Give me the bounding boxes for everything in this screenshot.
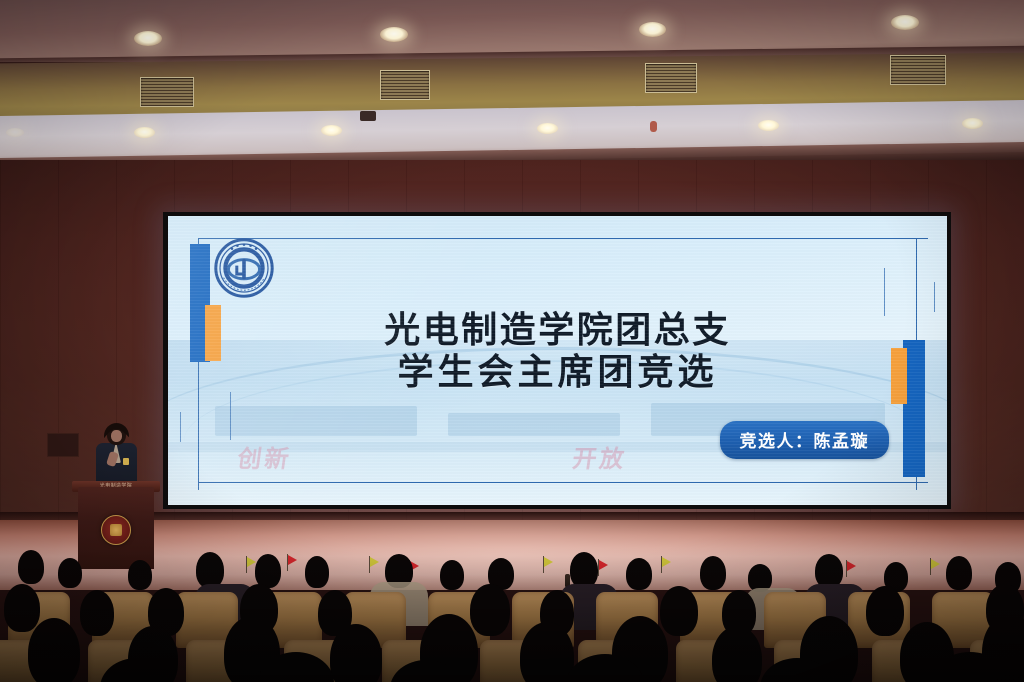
campus-building-block xyxy=(215,406,418,436)
audience-head xyxy=(128,560,152,590)
audience-head xyxy=(712,626,762,682)
audience-head xyxy=(28,618,80,682)
wall-mounted-plate xyxy=(47,433,79,457)
audience-head xyxy=(626,558,652,590)
audience-head xyxy=(470,584,510,636)
ceiling-downlight xyxy=(134,31,162,46)
podium-crest-icon xyxy=(101,515,131,545)
audience-head xyxy=(305,556,329,588)
speaker-face xyxy=(111,430,122,442)
university-emblem-icon xyxy=(214,238,274,298)
slide-tick-mark xyxy=(934,282,935,312)
slide-title-line-2: 学生会主席团竞选 xyxy=(168,351,947,393)
auditorium-scene: 创新 开放 xyxy=(0,0,1024,682)
audience-head xyxy=(196,552,224,588)
audience-head xyxy=(255,554,281,588)
candidate-name-badge: 竞选人：陈孟璇 xyxy=(720,421,890,459)
speaker-badge xyxy=(123,458,129,465)
slide-frame-bottom xyxy=(198,482,928,483)
presentation-slide: 创新 开放 xyxy=(168,216,947,505)
ceiling-downlight xyxy=(537,123,558,134)
audience-head xyxy=(570,552,598,588)
slide-frame-top xyxy=(198,238,928,239)
audience-head xyxy=(58,558,82,588)
projection-screen: 创新 开放 xyxy=(163,212,951,509)
ceiling-downlight xyxy=(134,127,155,138)
slide-tick-mark xyxy=(230,392,231,440)
ventilation-grille xyxy=(645,63,697,93)
audience-head xyxy=(815,554,843,588)
ventilation-grille xyxy=(890,55,946,85)
audience-head xyxy=(520,622,574,682)
ceiling-sprinkler xyxy=(650,121,657,132)
audience-head xyxy=(18,550,44,584)
audience-head xyxy=(866,586,904,636)
ceiling-downlight xyxy=(639,22,666,37)
ceiling-downlight xyxy=(321,125,342,136)
audience-seating xyxy=(0,548,1024,682)
audience-head xyxy=(80,590,114,636)
ceiling-speaker-box xyxy=(360,111,376,121)
ceiling-downlight xyxy=(891,15,919,30)
slide-title: 光电制造学院团总支 学生会主席团竞选 xyxy=(168,309,947,394)
ceiling-downlight xyxy=(6,128,24,137)
slide-title-line-1: 光电制造学院团总支 xyxy=(168,309,947,351)
ceiling-downlight xyxy=(962,118,983,129)
ventilation-grille xyxy=(380,70,430,100)
audience-head xyxy=(660,586,698,636)
audience-head xyxy=(946,556,972,590)
campus-building-block xyxy=(448,413,619,436)
ceiling-downlight xyxy=(758,120,779,131)
audience-head xyxy=(4,584,40,632)
audience-head xyxy=(700,556,726,590)
slide-photo-word: 开放 xyxy=(571,439,630,474)
ventilation-grille xyxy=(140,77,194,107)
ceiling-downlight xyxy=(380,27,408,42)
slide-photo-word: 创新 xyxy=(236,439,295,474)
audience-head xyxy=(440,560,464,590)
slide-tick-mark xyxy=(180,412,181,442)
